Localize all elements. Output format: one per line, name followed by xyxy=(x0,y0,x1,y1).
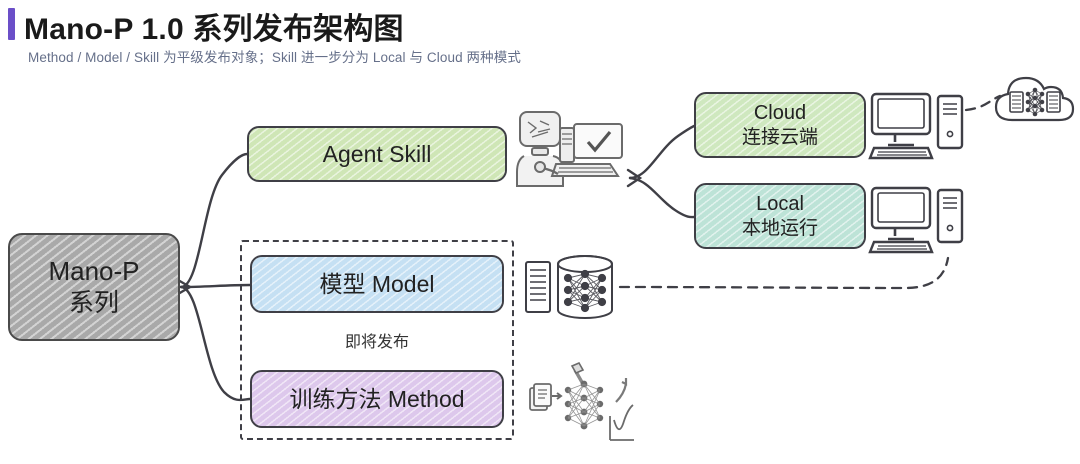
desktop-computer-local-icon xyxy=(868,184,966,262)
neural-network-tuning-icon xyxy=(528,362,638,446)
node-skill-mode-local[interactable]: Local 本地运行 xyxy=(694,183,866,249)
wire-skill-to-cloud xyxy=(630,126,694,178)
node-mano-p-series[interactable]: Mano-P 系列 xyxy=(8,233,180,341)
desktop-computer-cloud-icon xyxy=(868,90,966,168)
node-agent-skill-label: Agent Skill xyxy=(323,140,432,168)
wire-model-to-local-dashed xyxy=(620,258,948,288)
node-local-subtitle: 本地运行 xyxy=(742,217,818,240)
architecture-diagram: 即将发布 Mano-P 系列 Agent Skill 模型 Model 训练方法… xyxy=(0,0,1080,464)
node-method[interactable]: 训练方法 Method xyxy=(250,370,504,428)
node-cloud-title: Cloud xyxy=(754,101,806,125)
node-method-label: 训练方法 Method xyxy=(289,385,464,413)
node-root-line2: 系列 xyxy=(69,288,119,319)
wire-skill-to-local xyxy=(630,178,694,217)
node-agent-skill[interactable]: Agent Skill xyxy=(247,126,507,182)
node-model-label: 模型 Model xyxy=(319,270,434,298)
database-neural-network-icon xyxy=(523,252,627,324)
node-root-line1: Mano-P xyxy=(48,256,139,288)
node-model[interactable]: 模型 Model xyxy=(250,255,504,313)
node-cloud-subtitle: 连接云端 xyxy=(742,126,818,149)
cloud-servers-icon xyxy=(988,68,1080,130)
node-local-title: Local xyxy=(756,192,804,216)
wire-root-to-skill xyxy=(181,154,247,287)
node-skill-mode-cloud[interactable]: Cloud 连接云端 xyxy=(694,92,866,158)
robot-at-computer-icon xyxy=(512,104,630,192)
upcoming-release-label: 即将发布 xyxy=(240,328,514,352)
